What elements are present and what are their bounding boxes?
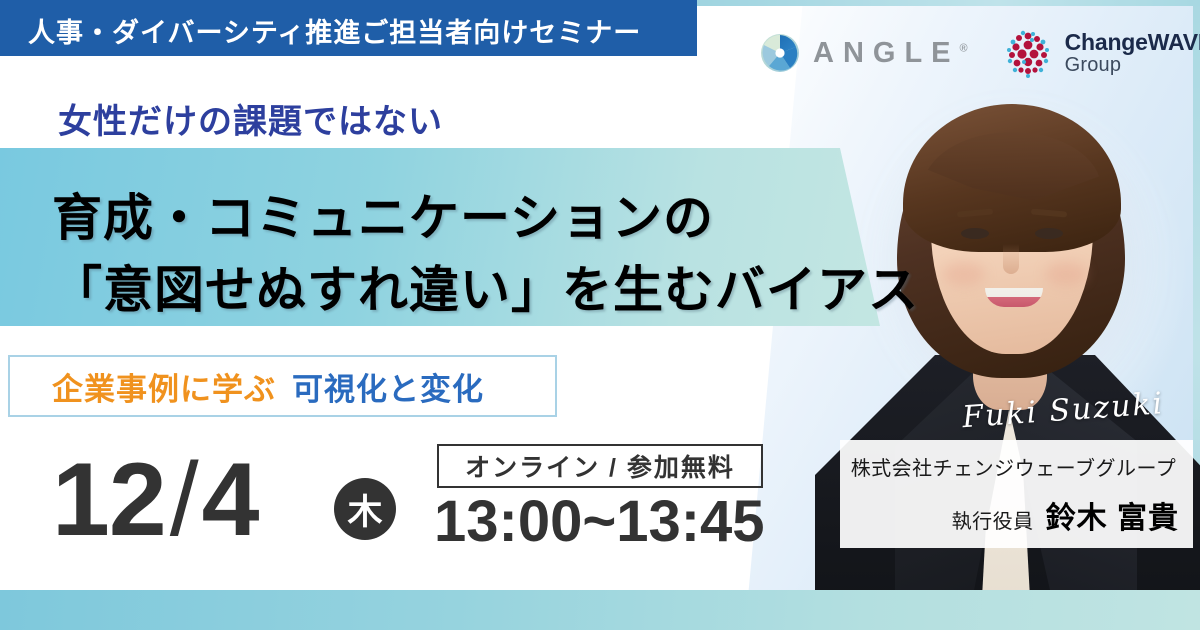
- event-format-box: オンライン / 参加無料: [437, 444, 763, 488]
- speaker-company: 株式会社チェンジウェーブグループ: [840, 452, 1193, 481]
- changewave-logo: ChangeWAVE Group: [1002, 27, 1200, 79]
- day-of-week-badge: 木: [334, 478, 396, 540]
- subtitle-text: 女性だけの課題ではない: [58, 94, 443, 143]
- portrait-eye-right: [1035, 228, 1063, 239]
- portrait-cheek-right: [1045, 262, 1087, 286]
- changewave-name: ChangeWAVE: [1065, 31, 1200, 54]
- tagline-orange-text: 企業事例に学ぶ: [52, 364, 276, 409]
- event-format-label: オンライン / 参加無料: [465, 448, 735, 484]
- title-line-2: 「意図せぬすれ違い」を生むバイアス: [52, 250, 919, 322]
- header-top-rule: [697, 0, 1200, 6]
- event-date: 12/4: [52, 448, 258, 552]
- seminar-banner: Fuki Suzuki 人事・ダイバーシティ推進ご担当者向けセミナー: [0, 0, 1200, 630]
- tagline-blue-text: 可視化と変化: [292, 364, 484, 409]
- portrait-cheek-left: [943, 262, 985, 286]
- title-line-1: 育成・コミュニケーションの: [52, 178, 714, 250]
- bottom-accent-band: [0, 590, 1200, 630]
- angle-name: ANGLE: [813, 37, 960, 69]
- angle-registered-mark: ®: [960, 42, 968, 54]
- logo-group: ANGLE®: [760, 18, 1200, 88]
- header-banner: 人事・ダイバーシティ推進ご担当者向けセミナー: [0, 0, 697, 56]
- angle-logo: ANGLE®: [760, 33, 968, 73]
- portrait-eye-left: [961, 228, 989, 239]
- dot-sphere-icon: [1002, 27, 1054, 79]
- speaker-info-panel: 株式会社チェンジウェーブグループ 執行役員鈴木 富貴: [840, 440, 1193, 548]
- tagline-box: 企業事例に学ぶ 可視化と変化: [8, 355, 557, 417]
- speaker-person: 執行役員鈴木 富貴: [840, 493, 1193, 537]
- changewave-wordmark: ChangeWAVE Group: [1065, 31, 1200, 75]
- speaker-role: 執行役員: [952, 511, 1034, 533]
- header-banner-text: 人事・ダイバーシティ推進ご担当者向けセミナー: [28, 11, 641, 50]
- event-day: 4: [202, 442, 259, 558]
- angle-wordmark: ANGLE®: [813, 37, 968, 70]
- changewave-sub: Group: [1065, 55, 1200, 75]
- event-month: 12: [52, 442, 166, 558]
- event-time: 13:00~13:45: [434, 488, 765, 555]
- portrait-nose: [1003, 244, 1019, 274]
- date-separator: /: [170, 442, 198, 558]
- speaker-name: 鈴木 富貴: [1046, 502, 1179, 535]
- aperture-icon: [760, 33, 800, 73]
